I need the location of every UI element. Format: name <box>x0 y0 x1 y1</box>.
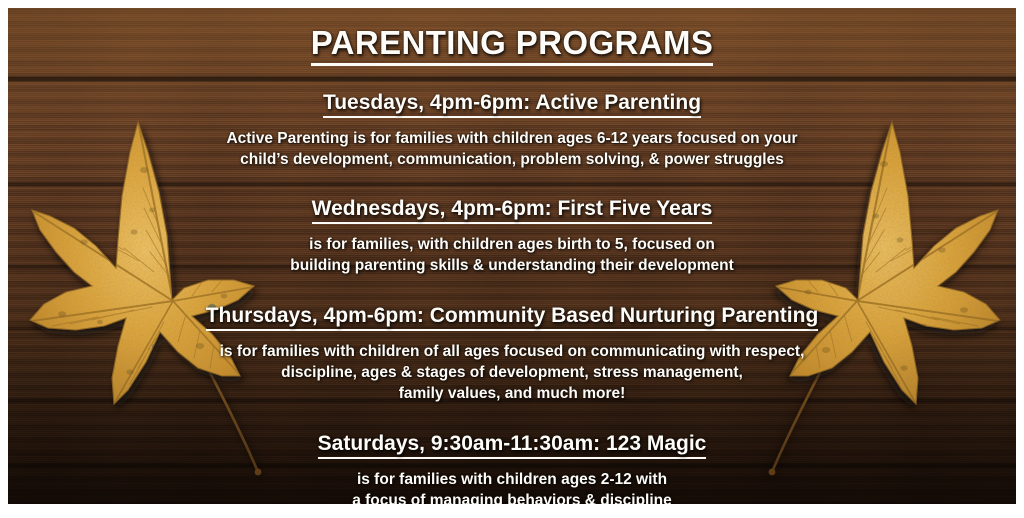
program-body-saturdays: is for families with children ages 2-12 … <box>8 469 1016 504</box>
program-heading-wrapper-wednesdays: Wednesdays, 4pm-6pm: First Five Years <box>8 196 1016 224</box>
program-heading-tuesdays: Tuesdays, 4pm-6pm: Active Parenting <box>323 90 701 118</box>
program-heading-wrapper-tuesdays: Tuesdays, 4pm-6pm: Active Parenting <box>8 90 1016 118</box>
program-block-thursdays: Thursdays, 4pm-6pm: Community Based Nurt… <box>8 277 1016 405</box>
program-block-tuesdays: Tuesdays, 4pm-6pm: Active Parenting Acti… <box>8 66 1016 171</box>
program-body-thursdays: is for families with children of all age… <box>8 341 1016 405</box>
flyer-content: PARENTING PROGRAMS Tuesdays, 4pm-6pm: Ac… <box>8 8 1016 504</box>
program-body-tuesdays: Active Parenting is for families with ch… <box>8 128 1016 171</box>
program-heading-wednesdays: Wednesdays, 4pm-6pm: First Five Years <box>312 196 713 224</box>
program-heading-saturdays: Saturdays, 9:30am-11:30am: 123 Magic <box>318 431 707 459</box>
flyer-title-wrapper: PARENTING PROGRAMS <box>8 26 1016 66</box>
flyer-canvas: PARENTING PROGRAMS Tuesdays, 4pm-6pm: Ac… <box>0 0 1024 518</box>
program-heading-wrapper-thursdays: Thursdays, 4pm-6pm: Community Based Nurt… <box>8 303 1016 331</box>
program-heading-thursdays: Thursdays, 4pm-6pm: Community Based Nurt… <box>206 303 819 331</box>
program-block-saturdays: Saturdays, 9:30am-11:30am: 123 Magic is … <box>8 405 1016 504</box>
program-body-wednesdays: is for families, with children ages birt… <box>8 234 1016 277</box>
program-block-wednesdays: Wednesdays, 4pm-6pm: First Five Years is… <box>8 171 1016 277</box>
page-title: PARENTING PROGRAMS <box>311 26 714 66</box>
program-heading-wrapper-saturdays: Saturdays, 9:30am-11:30am: 123 Magic <box>8 431 1016 459</box>
wood-background: PARENTING PROGRAMS Tuesdays, 4pm-6pm: Ac… <box>8 8 1016 504</box>
